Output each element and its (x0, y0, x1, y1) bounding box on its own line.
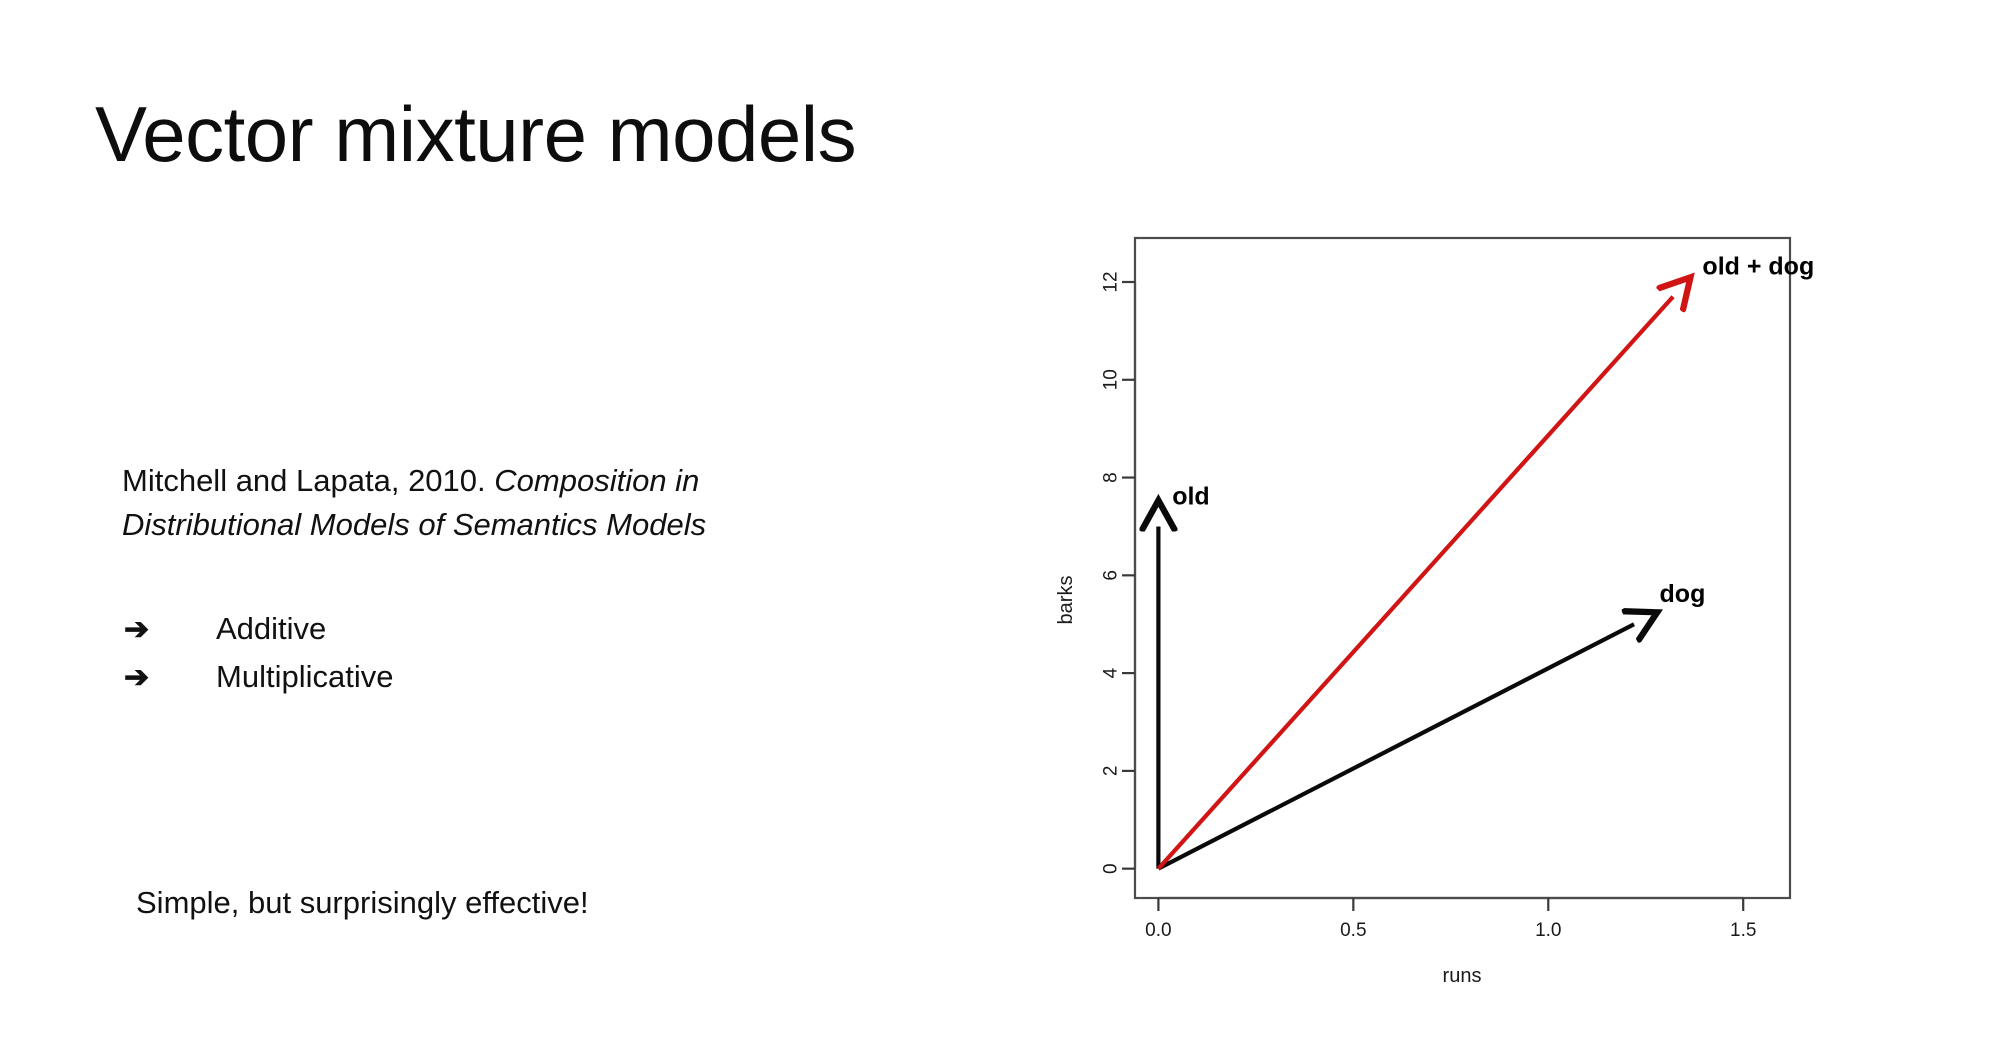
x-tick-label: 0.0 (1145, 920, 1171, 941)
x-axis-title: runs (1443, 965, 1482, 987)
y-axis: 024681012 (1101, 271, 1136, 874)
list-item: ➔ Multiplicative (124, 661, 824, 693)
y-tick-label: 12 (1101, 271, 1122, 292)
bullet-label-multiplicative: Multiplicative (216, 661, 393, 692)
x-tick-label: 1.0 (1535, 920, 1561, 941)
y-axis-title: barks (1055, 576, 1077, 625)
citation-plain: Mitchell and Lapata, 2010. (122, 463, 494, 498)
page-title: Vector mixture models (95, 94, 856, 176)
y-tick-label: 6 (1101, 570, 1122, 581)
vector-label-dog: dog (1660, 580, 1706, 608)
plot-panel-border (1135, 238, 1790, 898)
vector-arrow-dog (1158, 624, 1634, 868)
arrow-right-icon: ➔ (124, 615, 216, 645)
list-item: ➔ Additive (124, 613, 824, 645)
y-tick-label: 10 (1101, 369, 1122, 390)
bullet-list: ➔ Additive ➔ Multiplicative (124, 613, 824, 709)
vector-label-old+dog: old + dog (1702, 253, 1814, 281)
bullet-label-additive: Additive (216, 613, 326, 644)
vector-arrows: olddogold + dog (1158, 253, 1814, 869)
y-tick-label: 2 (1101, 766, 1122, 777)
closing-statement: Simple, but surprisingly effective! (136, 881, 896, 925)
vector-plot-svg: 024681012 0.00.51.01.5 barks runs olddog… (1050, 200, 1850, 1000)
x-tick-label: 1.5 (1730, 920, 1756, 941)
vector-arrow-old+dog (1158, 297, 1673, 869)
y-tick-label: 4 (1101, 667, 1122, 678)
y-tick-label: 8 (1101, 472, 1122, 483)
x-tick-label: 0.5 (1340, 920, 1366, 941)
vector-plot-figure: 024681012 0.00.51.01.5 barks runs olddog… (1050, 200, 1850, 1000)
x-axis: 0.00.51.01.5 (1145, 898, 1756, 941)
citation-text: Mitchell and Lapata, 2010. Composition i… (122, 459, 882, 547)
vector-label-old: old (1172, 482, 1210, 510)
arrow-right-icon: ➔ (124, 663, 216, 693)
y-tick-label: 0 (1101, 863, 1122, 874)
slide-canvas: Vector mixture models Mitchell and Lapat… (0, 0, 2000, 1057)
